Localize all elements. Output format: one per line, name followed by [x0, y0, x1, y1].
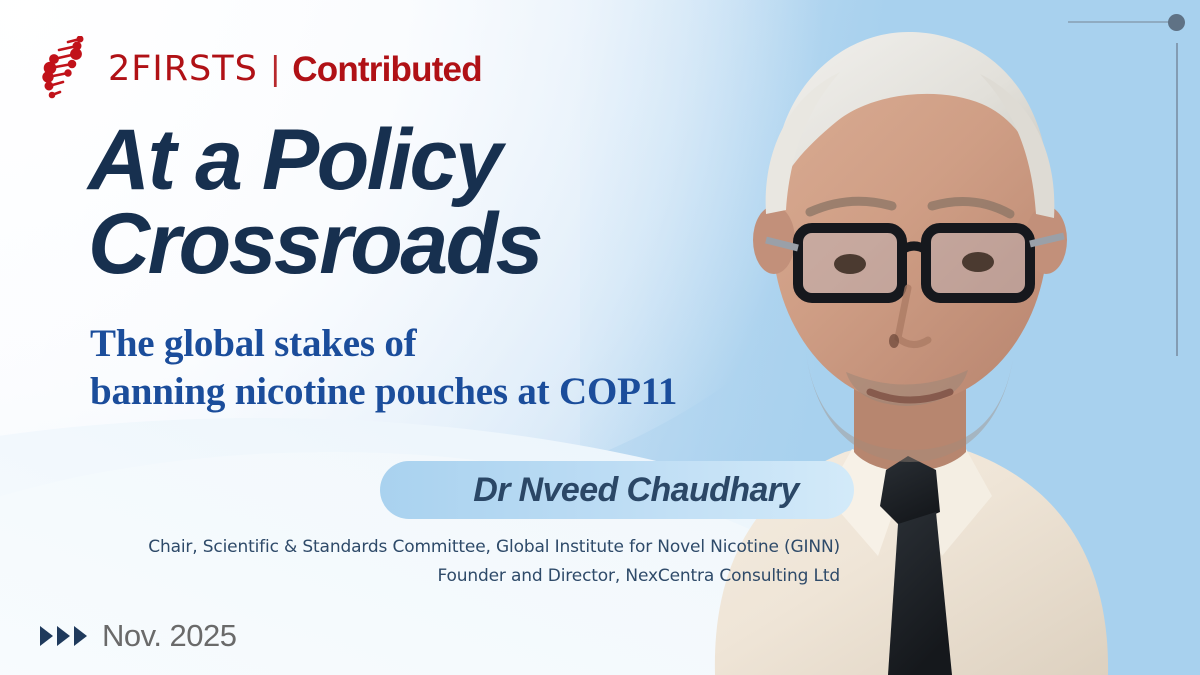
decorative-horizontal-line	[1068, 21, 1174, 23]
brand-kind-label: Contributed	[292, 52, 482, 87]
speaker-credentials: Chair, Scientific & Standards Committee,…	[140, 533, 840, 590]
page-title: At a Policy Crossroads	[88, 118, 708, 287]
decorative-vertical-line	[1176, 43, 1178, 356]
subtitle-line-1: The global stakes of	[90, 320, 860, 368]
speaker-name-pill: Dr Nveed Chaudhary	[380, 461, 854, 519]
dna-helix-icon	[38, 36, 94, 102]
triple-triangle-icon	[40, 626, 87, 646]
brand-separator: |	[271, 52, 279, 86]
decorative-dot-icon	[1168, 14, 1185, 31]
headline-line-1: At a Policy	[88, 118, 708, 202]
credential-line-1: Chair, Scientific & Standards Committee,…	[140, 533, 840, 562]
subtitle-line-2: banning nicotine pouches at COP11	[90, 368, 860, 416]
headline-line-2: Crossroads	[88, 202, 708, 286]
brand-logo[interactable]: 2FIRSTS | Contributed	[38, 36, 482, 102]
page-subtitle: The global stakes of banning nicotine po…	[90, 320, 860, 415]
brand-name: 2FIRSTS	[108, 52, 258, 87]
date-text: Nov. 2025	[102, 618, 237, 654]
credential-line-2: Founder and Director, NexCentra Consulti…	[140, 562, 840, 591]
contributed-article-card: 2FIRSTS | Contributed At a Policy Crossr…	[0, 0, 1200, 675]
speaker-name: Dr Nveed Chaudhary	[435, 471, 799, 510]
publication-date: Nov. 2025	[40, 618, 237, 654]
